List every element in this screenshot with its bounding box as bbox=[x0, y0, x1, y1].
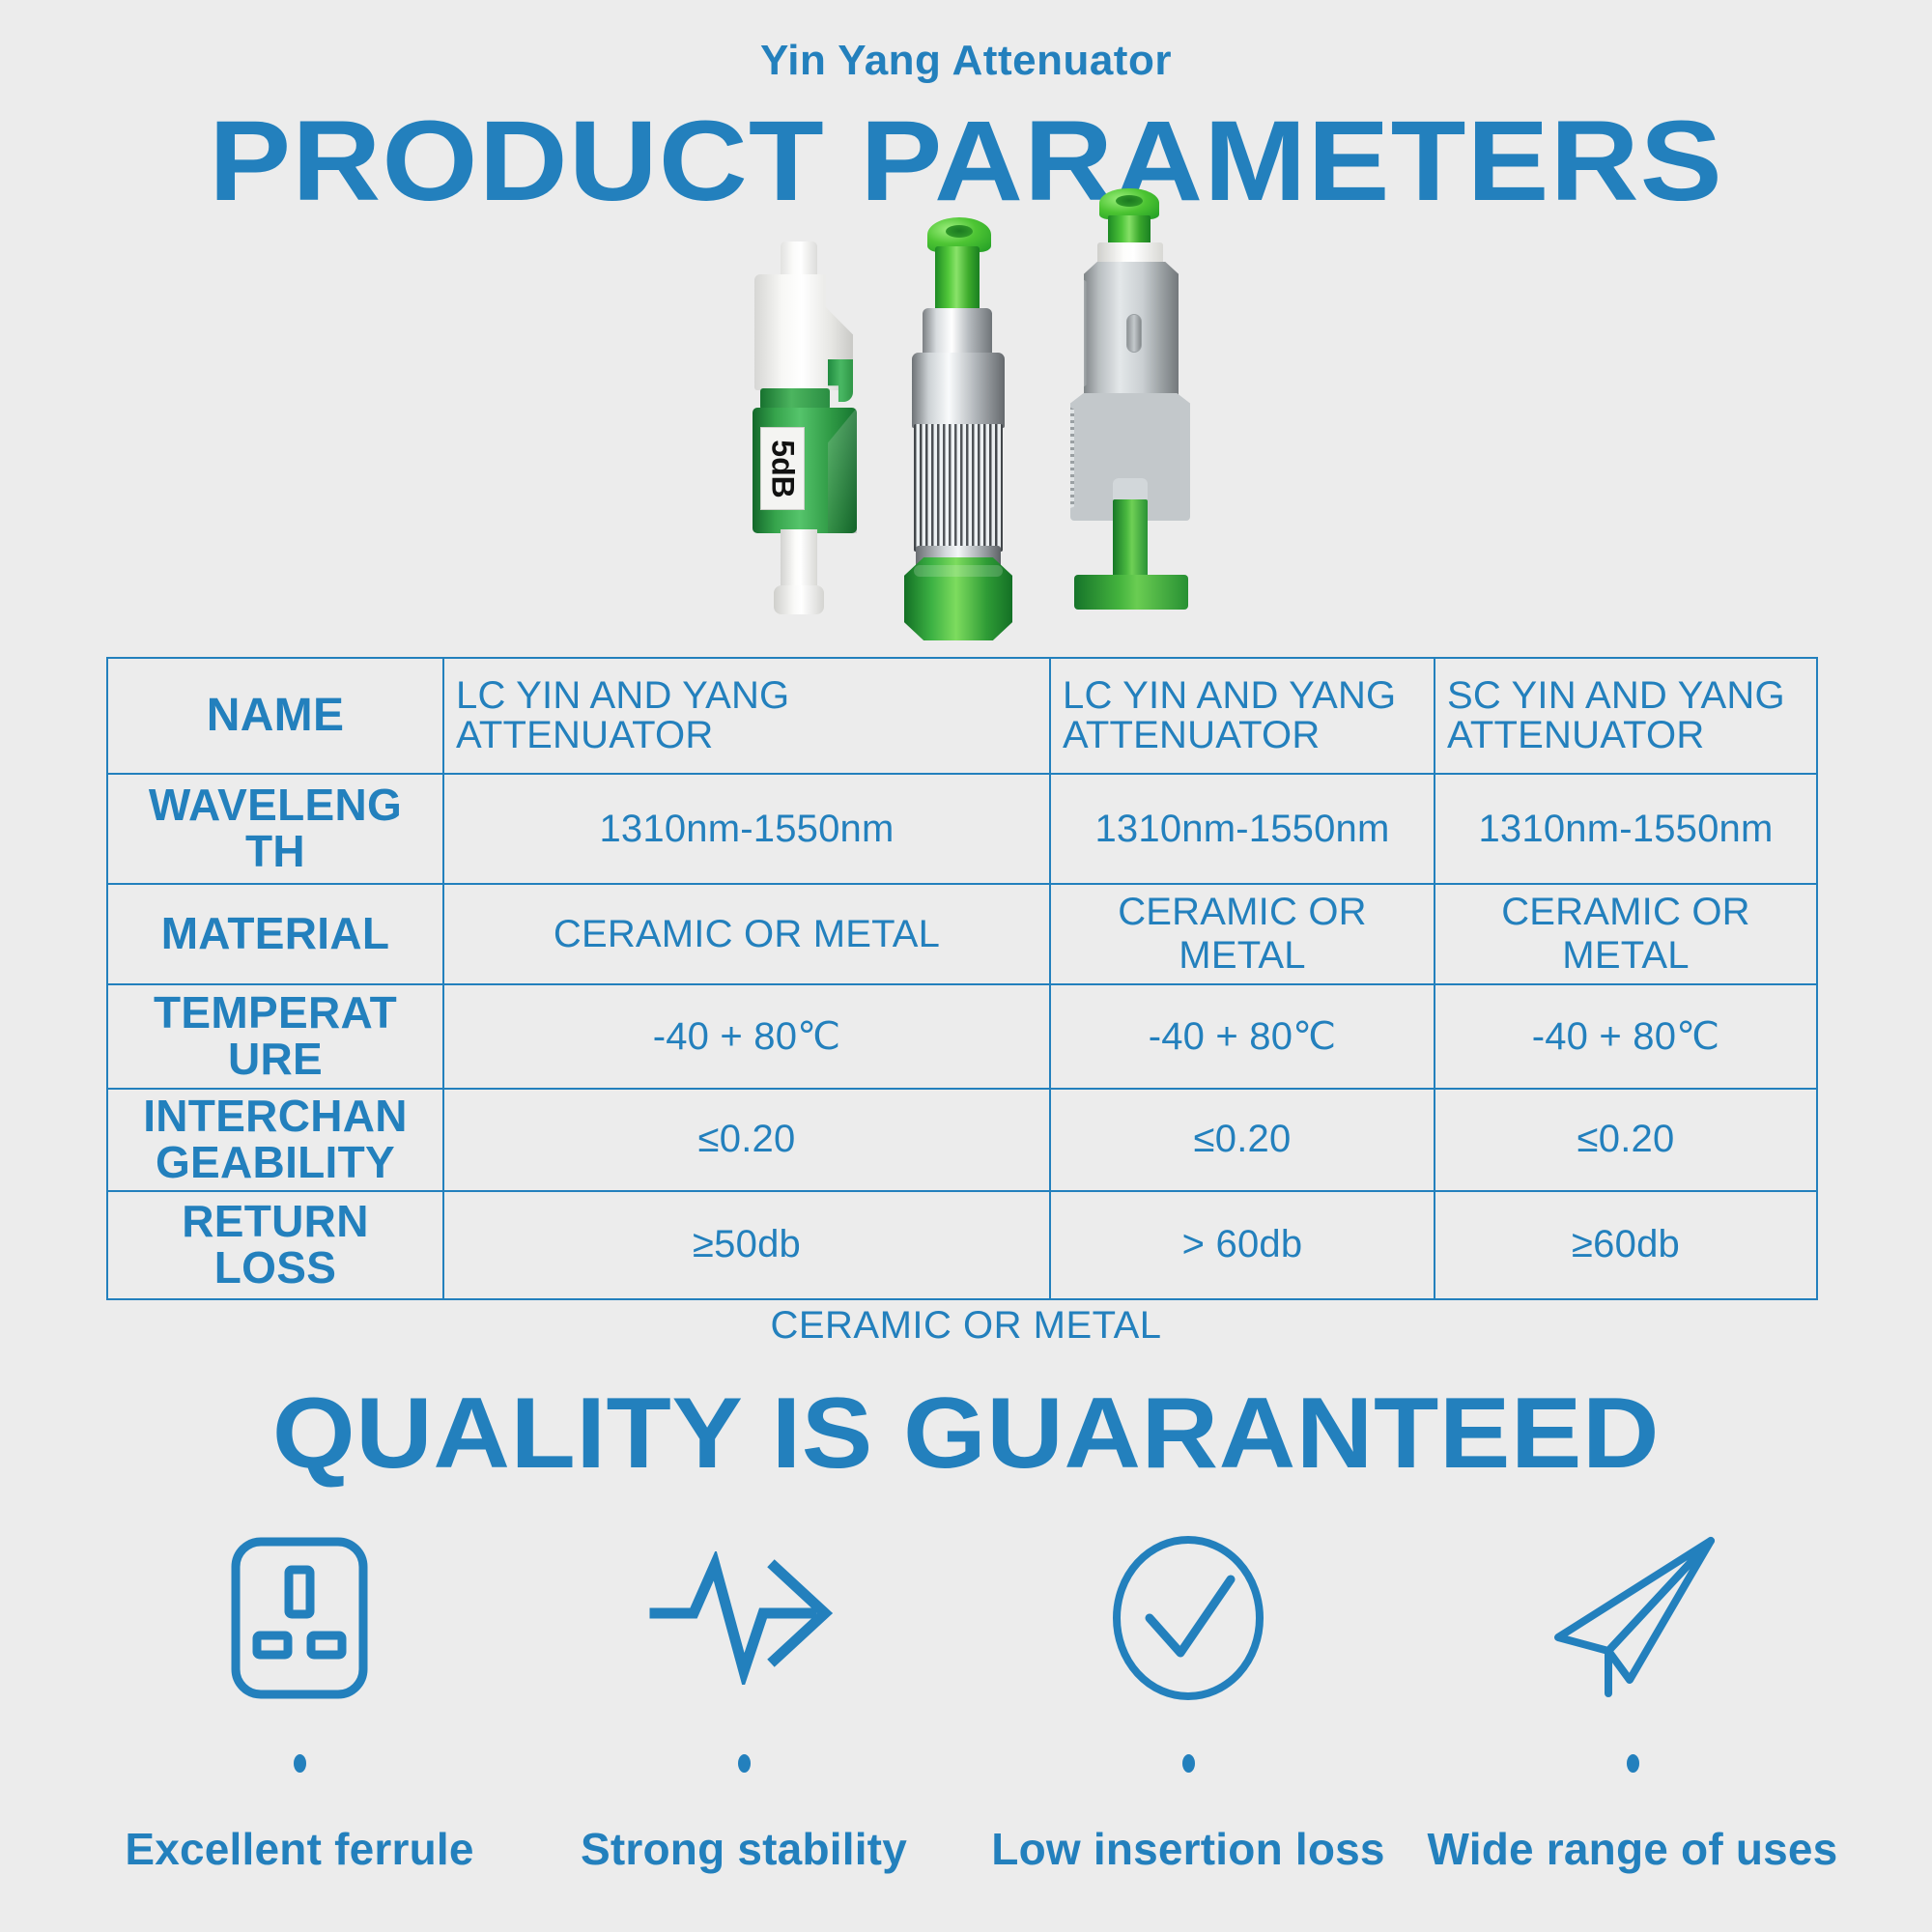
cell-wavelength-col1: 1310nm-1550nm bbox=[443, 774, 1050, 884]
table-row: INTERCHAN GEABILITY ≤0.20 ≤0.20 ≤0.20 bbox=[107, 1089, 1817, 1191]
fc-attenuator-chrome bbox=[898, 217, 1034, 657]
lc-db-label: 5dB bbox=[760, 427, 805, 510]
row-label-interchangeability: INTERCHAN GEABILITY bbox=[107, 1089, 443, 1191]
cell-name-col3: SC YIN AND YANG ATTENUATOR bbox=[1435, 658, 1817, 774]
row-label-line: INTERCHAN bbox=[114, 1094, 437, 1140]
table-row: MATERIAL CERAMIC OR METAL CERAMIC OR MET… bbox=[107, 884, 1817, 984]
feature-label: Wide range of uses bbox=[1428, 1823, 1838, 1875]
paper-plane-icon bbox=[1541, 1526, 1724, 1710]
feature-item: Wide range of uses bbox=[1420, 1526, 1845, 1875]
check-circle-icon bbox=[1109, 1526, 1267, 1710]
product-photo: 5dB bbox=[720, 188, 1261, 652]
page-subtitle: Yin Yang Attenuator bbox=[0, 37, 1932, 85]
cell-temperature-col1: -40 + 80℃ bbox=[443, 984, 1050, 1089]
feature-dot bbox=[1627, 1754, 1639, 1773]
table-row: NAME LC YIN AND YANG ATTENUATOR LC YIN A… bbox=[107, 658, 1817, 774]
feature-label: Low insertion loss bbox=[991, 1823, 1384, 1875]
cell-return-loss-col3: ≥60db bbox=[1435, 1191, 1817, 1299]
cell-interchangeability-col3: ≤0.20 bbox=[1435, 1089, 1817, 1191]
lc-stub bbox=[781, 241, 817, 278]
table-row: WAVELENG TH 1310nm-1550nm 1310nm-1550nm … bbox=[107, 774, 1817, 884]
feature-dot bbox=[1182, 1754, 1195, 1773]
feature-label: Excellent ferrule bbox=[125, 1823, 473, 1875]
row-label-line: WAVELENG bbox=[114, 782, 437, 829]
lc-db-label-text: 5dB bbox=[765, 440, 801, 497]
spec-table: NAME LC YIN AND YANG ATTENUATOR LC YIN A… bbox=[106, 657, 1818, 1300]
cell-interchangeability-col2: ≤0.20 bbox=[1050, 1089, 1435, 1191]
fc-green-cap-body bbox=[935, 246, 980, 312]
cell-interchangeability-col1: ≤0.20 bbox=[443, 1089, 1050, 1191]
mid-caption: CERAMIC OR METAL bbox=[0, 1304, 1932, 1348]
cell-return-loss-col2: > 60db bbox=[1050, 1191, 1435, 1299]
row-label-line: GEABILITY bbox=[114, 1140, 437, 1186]
fc-chrome-ring-upper bbox=[923, 308, 992, 358]
row-label-temperature: TEMPERAT URE bbox=[107, 984, 443, 1089]
feature-label: Strong stability bbox=[581, 1823, 907, 1875]
row-label-material: MATERIAL bbox=[107, 884, 443, 984]
cell-material-col1: CERAMIC OR METAL bbox=[443, 884, 1050, 984]
sc-body-slot bbox=[1126, 314, 1142, 353]
cell-wavelength-col2: 1310nm-1550nm bbox=[1050, 774, 1435, 884]
lc-green-latch bbox=[828, 359, 853, 402]
feature-item: Excellent ferrule bbox=[87, 1526, 512, 1875]
sc-green-foot bbox=[1074, 575, 1188, 610]
row-label-line: RETURN bbox=[114, 1199, 437, 1245]
cell-name-col1: LC YIN AND YANG ATTENUATOR bbox=[443, 658, 1050, 774]
features-row: Excellent ferrule Strong stability Low i… bbox=[87, 1526, 1845, 1875]
quality-title: QUALITY IS GUARANTEED bbox=[0, 1377, 1932, 1492]
infographic-page: Yin Yang Attenuator PRODUCT PARAMETERS 5… bbox=[0, 0, 1932, 1932]
feature-dot bbox=[738, 1754, 751, 1773]
lc-white-foot bbox=[781, 529, 817, 614]
row-label-line: TH bbox=[114, 829, 437, 875]
row-label-line: TEMPERAT bbox=[114, 990, 437, 1037]
row-label-line: URE bbox=[114, 1037, 437, 1083]
power-socket-icon bbox=[227, 1526, 372, 1710]
sc-metal-upper-body bbox=[1084, 262, 1179, 397]
sc-attenuator-metal bbox=[1053, 188, 1222, 652]
table-row: RETURN LOSS ≥50db > 60db ≥60db bbox=[107, 1191, 1817, 1299]
row-label-line: LOSS bbox=[114, 1245, 437, 1292]
feature-item: Low insertion loss bbox=[976, 1526, 1401, 1875]
fc-chrome-body bbox=[912, 353, 1005, 428]
feature-item: Strong stability bbox=[531, 1526, 956, 1875]
row-label-return-loss: RETURN LOSS bbox=[107, 1191, 443, 1299]
cell-temperature-col3: -40 + 80℃ bbox=[1435, 984, 1817, 1089]
feature-dot bbox=[294, 1754, 306, 1773]
table-row: TEMPERAT URE -40 + 80℃ -40 + 80℃ -40 + 8… bbox=[107, 984, 1817, 1089]
cell-return-loss-col1: ≥50db bbox=[443, 1191, 1050, 1299]
cell-temperature-col2: -40 + 80℃ bbox=[1050, 984, 1435, 1089]
cell-material-col3: CERAMIC OR METAL bbox=[1435, 884, 1817, 984]
cell-name-col2: LC YIN AND YANG ATTENUATOR bbox=[1050, 658, 1435, 774]
lc-green-neck bbox=[760, 388, 830, 410]
pulse-arrow-icon bbox=[649, 1526, 838, 1710]
cell-wavelength-col3: 1310nm-1550nm bbox=[1435, 774, 1817, 884]
lc-attenuator-white: 5dB bbox=[739, 241, 874, 652]
fc-knurled-barrel bbox=[914, 424, 1003, 552]
row-label-wavelength: WAVELENG TH bbox=[107, 774, 443, 884]
fc-green-hex-nut bbox=[904, 557, 1012, 640]
row-label-name: NAME bbox=[107, 658, 443, 774]
cell-material-col2: CERAMIC OR METAL bbox=[1050, 884, 1435, 984]
